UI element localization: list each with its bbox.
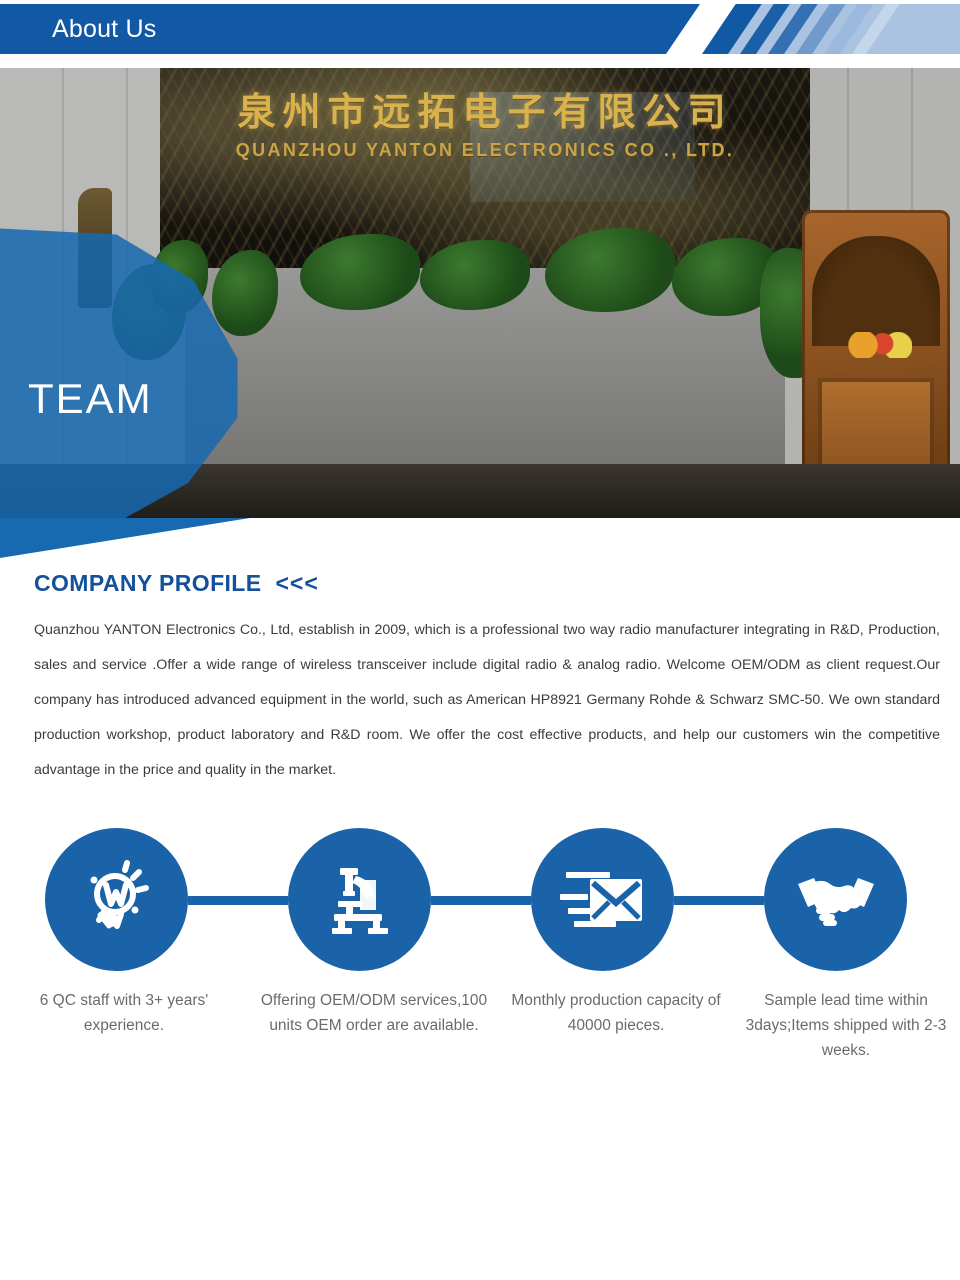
handshake-icon xyxy=(794,870,878,930)
team-overlay-tail xyxy=(0,518,250,558)
microscope-machine-icon xyxy=(320,860,400,940)
about-us-page: About Us 泉州市远拓电子有限公司 QUANZHOU YANTON ELE… xyxy=(0,0,960,1280)
company-profile-body: Quanzhou YANTON Electronics Co., Ltd, es… xyxy=(34,613,940,788)
company-profile-heading: COMPANY PROFILE<<< xyxy=(34,570,319,597)
feature-caption-4: Sample lead time within 3days;Items ship… xyxy=(732,988,960,1063)
feature-caption-2: Offering OEM/ODM services,100 units OEM … xyxy=(248,988,500,1063)
feature-circle-4[interactable] xyxy=(764,828,907,971)
envelope-speed-icon xyxy=(560,864,646,936)
feature-caption-1: 6 QC staff with 3+ years' experience. xyxy=(0,988,248,1063)
feature-circle-3[interactable] xyxy=(531,828,674,971)
page-header: About Us xyxy=(0,0,960,58)
feature-connector-3 xyxy=(674,896,764,905)
page-title: About Us xyxy=(52,4,156,54)
features-row xyxy=(0,828,960,973)
company-profile-heading-text: COMPANY PROFILE xyxy=(34,570,262,596)
feature-connector-2 xyxy=(431,896,531,905)
company-sign-english: QUANZHOU YANTON ELECTRONICS CO ., LTD. xyxy=(160,140,810,161)
team-overlay-label: TEAM xyxy=(28,375,153,423)
company-sign-chinese: 泉州市远拓电子有限公司 xyxy=(160,81,810,136)
feature-captions: 6 QC staff with 3+ years' experience. Of… xyxy=(0,988,960,1063)
feature-circle-2[interactable] xyxy=(288,828,431,971)
feature-caption-3: Monthly production capacity of 40000 pie… xyxy=(500,988,732,1063)
lightbulb-idea-icon xyxy=(75,858,159,942)
feature-circle-1[interactable] xyxy=(45,828,188,971)
company-profile-arrows: <<< xyxy=(276,570,319,596)
feature-connector-1 xyxy=(188,896,288,905)
hero-photo: 泉州市远拓电子有限公司 QUANZHOU YANTON ELECTRONICS … xyxy=(0,68,960,518)
